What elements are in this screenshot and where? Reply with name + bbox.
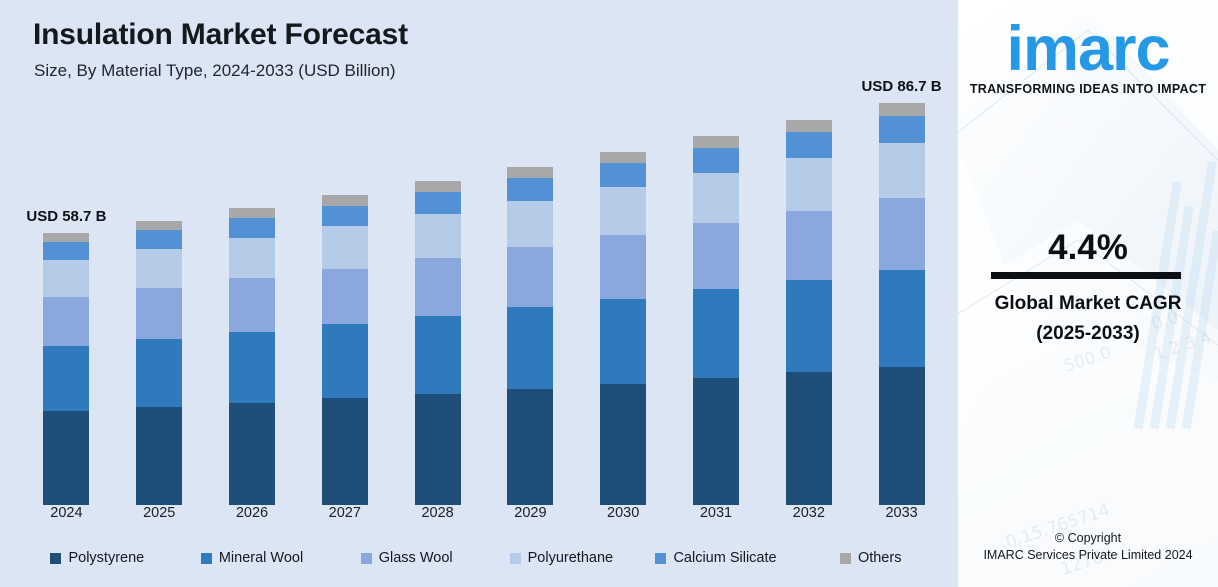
stacked-bar[interactable] (322, 195, 368, 505)
bar-segment-glass-wool[interactable] (43, 297, 89, 346)
page-subtitle: Size, By Material Type, 2024-2033 (USD B… (34, 61, 396, 81)
copyright-line-2: IMARC Services Private Limited 2024 (958, 548, 1218, 562)
bar-slot-2033[interactable]: USD 86.7 B (855, 90, 948, 505)
stacked-bar[interactable] (507, 167, 553, 505)
bar-segment-calcium-silicate[interactable] (415, 192, 461, 214)
x-axis-tick-2028: 2028 (391, 505, 484, 535)
bar-slot-2024[interactable]: USD 58.7 B (20, 90, 113, 505)
bar-segment-polystyrene[interactable] (322, 398, 368, 505)
bar-segment-mineral-wool[interactable] (415, 316, 461, 394)
bar-segment-glass-wool[interactable] (600, 235, 646, 299)
imarc-logo: imarc TRANSFORMING IDEAS INTO IMPACT (958, 20, 1218, 96)
page-title: Insulation Market Forecast (33, 18, 408, 52)
bar-segment-polyurethane[interactable] (322, 226, 368, 268)
bar-segment-polyurethane[interactable] (786, 158, 832, 210)
x-axis-tick-2026: 2026 (206, 505, 299, 535)
stacked-bar[interactable] (786, 120, 832, 505)
bar-segment-calcium-silicate[interactable] (693, 148, 739, 173)
x-axis-tick-2024: 2024 (20, 505, 113, 535)
bar-segment-polyurethane[interactable] (43, 260, 89, 297)
stacked-bar[interactable] (136, 221, 182, 505)
x-axis-tick-2030: 2030 (577, 505, 670, 535)
bar-segment-calcium-silicate[interactable] (786, 132, 832, 158)
bar-segment-polystyrene[interactable] (600, 384, 646, 505)
bar-segment-polyurethane[interactable] (600, 187, 646, 235)
bar-segment-polystyrene[interactable] (136, 407, 182, 505)
legend-label: Others (858, 550, 902, 566)
stacked-bar[interactable] (43, 233, 89, 505)
legend-label: Polyurethane (528, 550, 613, 566)
bar-slot-2027[interactable] (298, 90, 391, 505)
bar-segment-calcium-silicate[interactable] (43, 242, 89, 260)
chart-legend: PolystyreneMineral WoolGlass WoolPolyure… (20, 543, 948, 573)
bar-slot-2026[interactable] (206, 90, 299, 505)
legend-label: Polystyrene (68, 550, 144, 566)
legend-swatch-icon (201, 553, 212, 564)
cagr-divider (991, 272, 1181, 279)
legend-label: Mineral Wool (219, 550, 303, 566)
x-axis-tick-2033: 2033 (855, 505, 948, 535)
bar-segment-polystyrene[interactable] (229, 403, 275, 505)
bar-segment-glass-wool[interactable] (229, 278, 275, 331)
bar-segment-glass-wool[interactable] (879, 198, 925, 270)
bar-segment-mineral-wool[interactable] (786, 280, 832, 373)
bar-segment-mineral-wool[interactable] (229, 332, 275, 403)
bar-slot-2029[interactable] (484, 90, 577, 505)
bar-slot-2030[interactable] (577, 90, 670, 505)
legend-item-calcium-silicate[interactable]: Calcium Silicate (639, 550, 794, 566)
stacked-bar[interactable] (415, 181, 461, 505)
bar-segment-mineral-wool[interactable] (136, 339, 182, 407)
bar-segment-calcium-silicate[interactable] (136, 230, 182, 249)
chart-panel: Insulation Market Forecast Size, By Mate… (0, 0, 958, 587)
bar-segment-polyurethane[interactable] (507, 201, 553, 247)
bar-segment-others[interactable] (693, 136, 739, 148)
cagr-label-primary: Global Market CAGR (958, 293, 1218, 315)
cagr-value: 4.4% (958, 228, 1218, 268)
bar-segment-polystyrene[interactable] (879, 367, 925, 505)
bar-segment-polystyrene[interactable] (507, 389, 553, 505)
bar-segment-polystyrene[interactable] (693, 378, 739, 505)
brand-panel: 500.0 0.0 1 2 3 4 0.15.765714 12768 imar… (958, 0, 1218, 587)
legend-label: Calcium Silicate (673, 550, 776, 566)
bar-segment-others[interactable] (43, 233, 89, 242)
bar-slot-2028[interactable] (391, 90, 484, 505)
bar-segment-glass-wool[interactable] (136, 288, 182, 339)
bar-segment-polyurethane[interactable] (415, 214, 461, 258)
x-axis-tick-2025: 2025 (113, 505, 206, 535)
logo-tagline: TRANSFORMING IDEAS INTO IMPACT (958, 82, 1218, 96)
bar-value-label: USD 58.7 B (26, 208, 106, 225)
bar-segment-calcium-silicate[interactable] (229, 218, 275, 238)
stacked-bar[interactable] (229, 208, 275, 505)
bar-segment-polyurethane[interactable] (879, 143, 925, 198)
bar-segment-mineral-wool[interactable] (43, 346, 89, 411)
bar-segment-mineral-wool[interactable] (600, 299, 646, 384)
bar-slot-2025[interactable] (113, 90, 206, 505)
bar-segment-others[interactable] (415, 181, 461, 192)
bar-segment-others[interactable] (507, 167, 553, 178)
bar-group: USD 58.7 BUSD 86.7 B (20, 90, 948, 505)
stacked-bar[interactable] (879, 103, 925, 505)
bar-slot-2032[interactable] (762, 90, 855, 505)
bar-segment-polystyrene[interactable] (415, 394, 461, 505)
bar-segment-mineral-wool[interactable] (693, 289, 739, 378)
bar-segment-glass-wool[interactable] (693, 223, 739, 289)
legend-swatch-icon (50, 553, 61, 564)
legend-swatch-icon (510, 553, 521, 564)
stacked-bar[interactable] (693, 136, 739, 505)
bar-slot-2031[interactable] (670, 90, 763, 505)
bar-segment-mineral-wool[interactable] (322, 324, 368, 398)
bar-segment-glass-wool[interactable] (507, 247, 553, 308)
bar-value-label: USD 86.7 B (862, 78, 942, 95)
bar-segment-others[interactable] (229, 208, 275, 218)
bar-segment-calcium-silicate[interactable] (507, 178, 553, 201)
bar-segment-polystyrene[interactable] (786, 372, 832, 505)
legend-label: Glass Wool (379, 550, 453, 566)
bar-segment-mineral-wool[interactable] (879, 270, 925, 367)
bar-segment-calcium-silicate[interactable] (600, 163, 646, 187)
bar-segment-polyurethane[interactable] (229, 238, 275, 278)
legend-item-glass-wool[interactable]: Glass Wool (329, 550, 484, 566)
stacked-bar[interactable] (600, 152, 646, 505)
bar-segment-others[interactable] (786, 120, 832, 132)
x-axis-tick-2031: 2031 (670, 505, 763, 535)
bar-segment-mineral-wool[interactable] (507, 307, 553, 388)
bar-segment-glass-wool[interactable] (786, 211, 832, 280)
bar-segment-glass-wool[interactable] (415, 258, 461, 316)
logo-wordmark: imarc (958, 20, 1218, 80)
bar-segment-others[interactable] (322, 195, 368, 205)
x-axis: 2024202520262027202820292030203120322033 (20, 505, 948, 535)
legend-item-mineral-wool[interactable]: Mineral Wool (175, 550, 330, 566)
legend-swatch-icon (840, 553, 851, 564)
infographic-root: Insulation Market Forecast Size, By Mate… (0, 0, 1218, 587)
bar-segment-others[interactable] (600, 152, 646, 163)
x-axis-tick-2027: 2027 (298, 505, 391, 535)
x-axis-tick-2029: 2029 (484, 505, 577, 535)
bar-segment-calcium-silicate[interactable] (322, 206, 368, 227)
copyright-line-1: © Copyright (958, 531, 1218, 545)
bar-segment-polystyrene[interactable] (43, 411, 89, 505)
legend-swatch-icon (655, 553, 666, 564)
bar-segment-others[interactable] (879, 103, 925, 116)
legend-item-polystyrene[interactable]: Polystyrene (20, 550, 175, 566)
x-axis-tick-2032: 2032 (762, 505, 855, 535)
plot-area: USD 58.7 BUSD 86.7 B (0, 90, 958, 505)
bar-segment-polyurethane[interactable] (136, 249, 182, 288)
bar-segment-polyurethane[interactable] (693, 173, 739, 223)
legend-item-others[interactable]: Others (793, 550, 948, 566)
legend-swatch-icon (361, 553, 372, 564)
legend-item-polyurethane[interactable]: Polyurethane (484, 550, 639, 566)
bar-segment-calcium-silicate[interactable] (879, 116, 925, 143)
bar-segment-glass-wool[interactable] (322, 269, 368, 325)
bar-segment-others[interactable] (136, 221, 182, 230)
cagr-label-period: (2025-2033) (958, 323, 1218, 345)
